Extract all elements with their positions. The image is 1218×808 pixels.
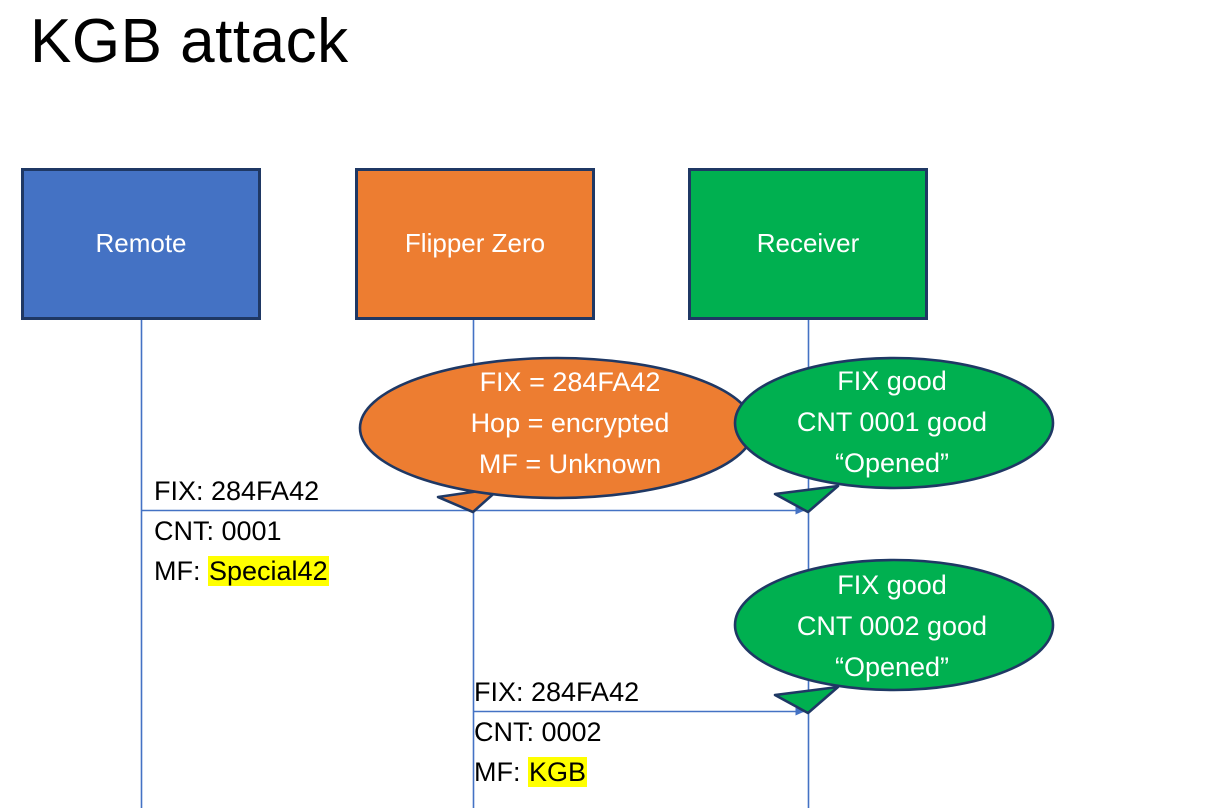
message-2-fix: FIX: 284FA42 xyxy=(474,672,639,712)
message-1-labels: FIX: 284FA42 CNT: 0001 MF: Special42 xyxy=(154,471,329,591)
message-2-mf-value: KGB xyxy=(528,757,587,787)
message-2-mf-prefix: MF: xyxy=(474,757,528,787)
actor-box-flipper[interactable]: Flipper Zero xyxy=(355,168,595,320)
message-1-mf: MF: Special42 xyxy=(154,551,329,591)
actor-label-receiver: Receiver xyxy=(757,228,860,259)
callout-receiver-first xyxy=(735,358,1053,512)
actor-box-remote[interactable]: Remote xyxy=(21,168,261,320)
callout-flipper-capture xyxy=(360,358,754,512)
message-1-mf-value: Special42 xyxy=(208,556,329,586)
actor-box-receiver[interactable]: Receiver xyxy=(688,168,928,320)
message-1-cnt: CNT: 0001 xyxy=(154,511,329,551)
actor-label-flipper: Flipper Zero xyxy=(405,228,545,259)
actor-label-remote: Remote xyxy=(95,228,186,259)
message-2-labels: FIX: 284FA42 CNT: 0002 MF: KGB xyxy=(474,672,639,792)
message-2-mf: MF: KGB xyxy=(474,752,639,792)
message-2-cnt: CNT: 0002 xyxy=(474,712,639,752)
message-1-mf-prefix: MF: xyxy=(154,556,208,586)
slide-canvas: KGB attack Re xyxy=(0,0,1218,808)
callout-receiver-second xyxy=(735,560,1053,713)
message-1-fix: FIX: 284FA42 xyxy=(154,471,329,511)
